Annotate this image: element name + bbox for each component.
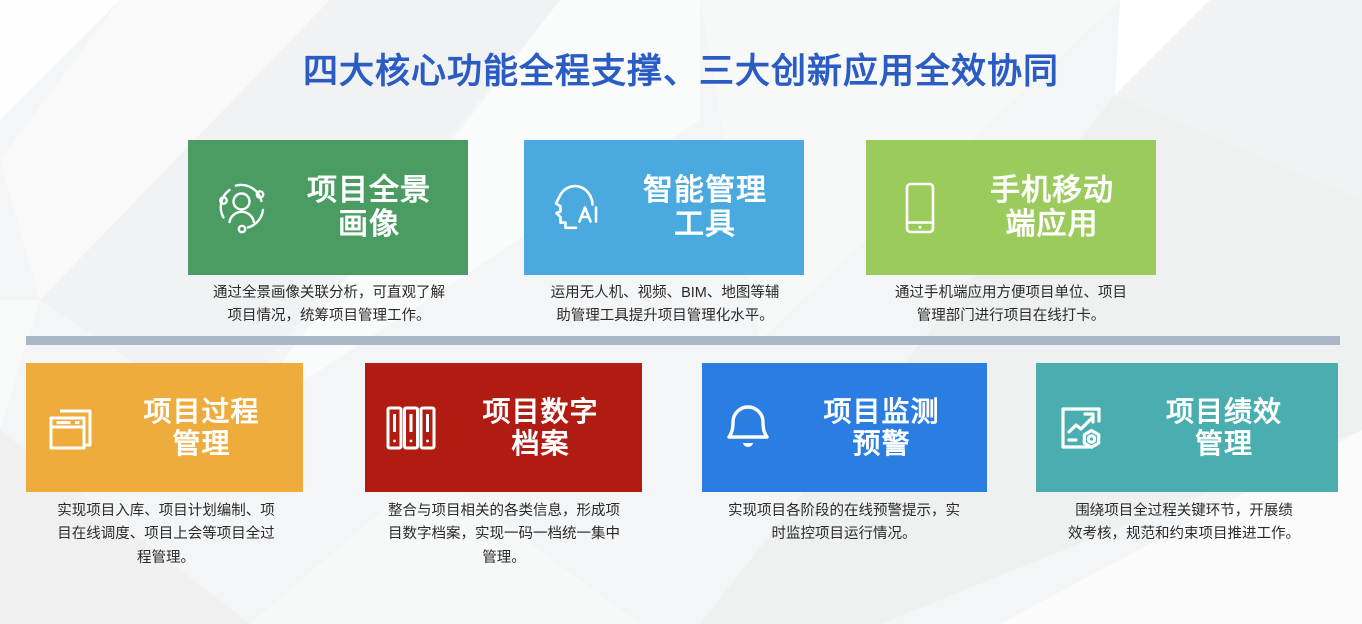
performance-chart-icon bbox=[1044, 399, 1120, 457]
feature-card-title: 项目过程 管理 bbox=[110, 396, 303, 459]
feature-card-project-monitoring-alert[interactable]: 项目监测 预警 bbox=[702, 363, 987, 492]
feature-card-title: 项目监测 预警 bbox=[786, 396, 987, 459]
section-divider bbox=[26, 336, 1340, 345]
feature-card-title: 项目全景 画像 bbox=[284, 174, 468, 241]
feature-card-project-performance-management[interactable]: 项目绩效 管理 bbox=[1036, 363, 1338, 492]
page-title: 四大核心功能全程支撑、三大创新应用全效协同 bbox=[0, 43, 1362, 94]
feature-card-title: 项目数字 档案 bbox=[449, 396, 642, 459]
person-orbit-icon bbox=[200, 177, 284, 239]
feature-caption: 运用无人机、视频、BIM、地图等辅 助管理工具提升项目管理化水平。 bbox=[516, 282, 814, 329]
feature-card-title: 手机移动 端应用 bbox=[962, 174, 1156, 241]
mobile-phone-icon bbox=[878, 177, 962, 239]
feature-caption: 围绕项目全过程关键环节，开展绩 效考核，规范和约束项目推进工作。 bbox=[1028, 500, 1340, 547]
stacked-documents-icon bbox=[34, 399, 110, 457]
ai-head-icon bbox=[536, 177, 620, 239]
feature-caption: 通过手机端应用方便项目单位、项目 管理部门进行项目在线打卡。 bbox=[858, 282, 1164, 329]
feature-card-title: 智能管理 工具 bbox=[620, 174, 804, 241]
slide-stage: 四大核心功能全程支撑、三大创新应用全效协同 项目全景 画像 通过全景画像关联分析… bbox=[0, 0, 1362, 624]
feature-card-project-panorama[interactable]: 项目全景 画像 bbox=[188, 140, 468, 275]
feature-card-mobile-application[interactable]: 手机移动 端应用 bbox=[866, 140, 1156, 275]
feature-card-project-process-management[interactable]: 项目过程 管理 bbox=[26, 363, 303, 492]
alert-bell-icon bbox=[710, 399, 786, 457]
feature-caption: 实现项目各阶段的在线预警提示，实 时监控项目运行情况。 bbox=[694, 500, 994, 547]
feature-card-title: 项目绩效 管理 bbox=[1120, 396, 1338, 459]
feature-caption: 整合与项目相关的各类信息，形成项 目数字档案，实现一码一档统一集中 管理。 bbox=[357, 500, 651, 570]
archive-binders-icon bbox=[373, 399, 449, 457]
feature-caption: 实现项目入库、项目计划编制、项 目在线调度、项目上会等项目全过 程管理。 bbox=[20, 500, 312, 570]
feature-caption: 通过全景画像关联分析，可直观了解 项目情况，统筹项目管理工作。 bbox=[180, 282, 478, 329]
feature-card-project-digital-archive[interactable]: 项目数字 档案 bbox=[365, 363, 642, 492]
feature-card-intelligent-management-tools[interactable]: 智能管理 工具 bbox=[524, 140, 804, 275]
